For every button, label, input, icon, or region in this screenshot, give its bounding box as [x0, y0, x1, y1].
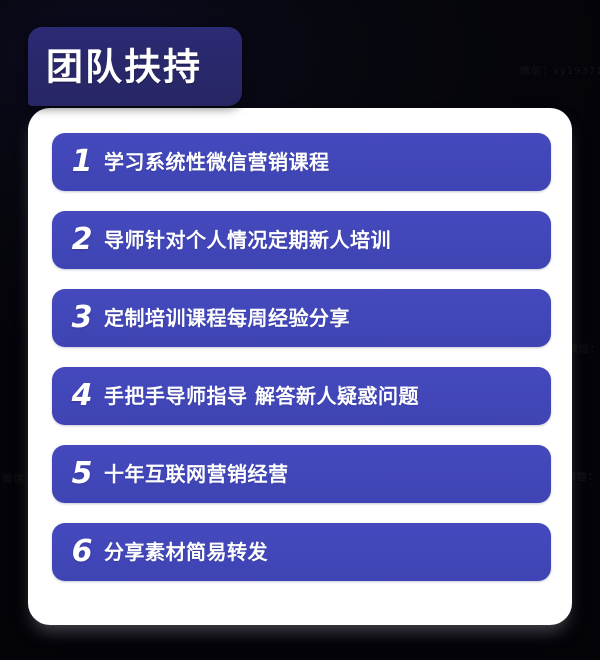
list-item-label: 手把手导师指导 解答新人疑惑问题 [104, 384, 551, 408]
list-item[interactable]: 2 导师针对个人情况定期新人培训 [52, 211, 551, 269]
list-item-label: 十年互联网营销经营 [104, 462, 551, 486]
list-item[interactable]: 4 手把手导师指导 解答新人疑惑问题 [52, 367, 551, 425]
list-item[interactable]: 1 学习系统性微信营销课程 [52, 133, 551, 191]
list-item-number: 3 [60, 303, 104, 333]
page-title: 团队扶持 [46, 48, 202, 85]
list-item-number: 4 [60, 381, 104, 411]
list-item-label: 学习系统性微信营销课程 [104, 150, 551, 174]
list-item-number: 1 [60, 147, 104, 177]
content-card: 1 学习系统性微信营销课程 2 导师针对个人情况定期新人培训 3 定制培训课程每… [28, 108, 572, 625]
title-badge: 团队扶持 [28, 27, 242, 106]
list-item[interactable]: 6 分享素材简易转发 [52, 523, 551, 581]
list-item[interactable]: 3 定制培训课程每周经验分享 [52, 289, 551, 347]
list-item[interactable]: 5 十年互联网营销经营 [52, 445, 551, 503]
list-item-label: 分享素材简易转发 [104, 540, 551, 564]
watermark-text: 微信：xy193718 [568, 340, 600, 355]
list-item-number: 5 [60, 459, 104, 489]
benefit-list: 1 学习系统性微信营销课程 2 导师针对个人情况定期新人培训 3 定制培训课程每… [52, 133, 551, 581]
poster-root: 团队扶持 1 学习系统性微信营销课程 2 导师针对个人情况定期新人培训 3 定制… [0, 0, 600, 660]
watermark-text: 微信：xy193718 [520, 62, 600, 77]
list-item-number: 2 [60, 225, 104, 255]
list-item-label: 导师针对个人情况定期新人培训 [104, 228, 551, 252]
list-item-label: 定制培训课程每周经验分享 [104, 306, 551, 330]
list-item-number: 6 [60, 537, 104, 567]
